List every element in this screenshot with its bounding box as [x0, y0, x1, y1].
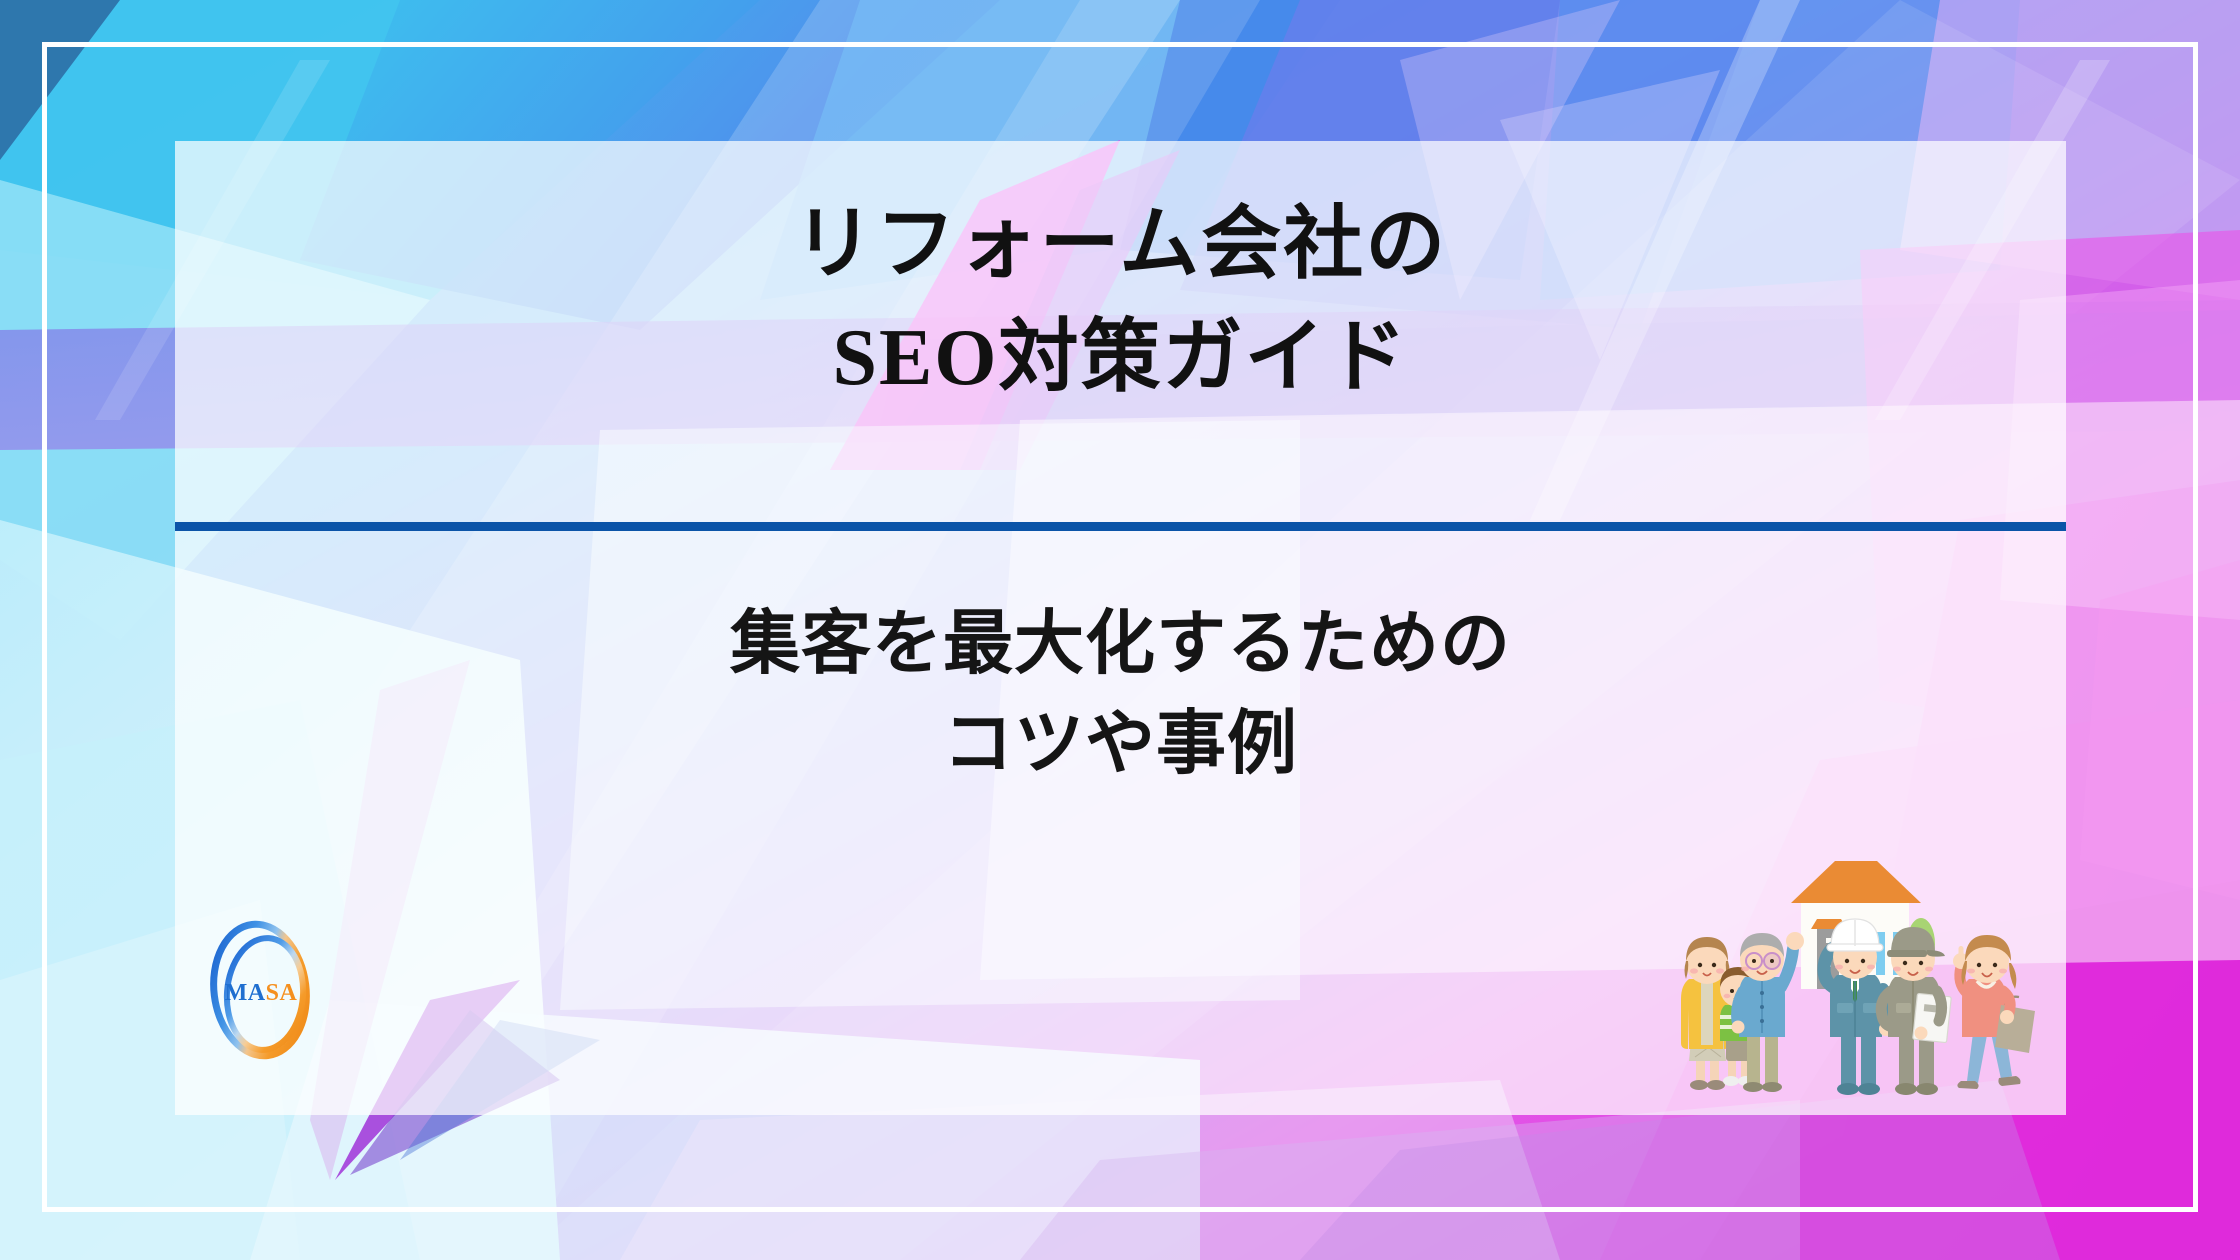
title-line-2: SEO対策ガイド — [175, 302, 2066, 415]
masa-wordmark: MASA — [225, 980, 298, 1006]
reform-family-and-workers-illustration — [1665, 781, 2055, 1111]
subtitle-line-2: コツや事例 — [175, 693, 2066, 793]
content-card: リフォーム会社の SEO対策ガイド 集客を最大化するための コツや事例 — [175, 141, 2066, 1115]
masa-logo: MASA — [195, 910, 325, 1070]
title-line-1: リフォーム会社の — [175, 189, 2066, 302]
masa-wordmark-part1: MA — [225, 980, 266, 1006]
masa-wordmark-part2: SA — [266, 980, 298, 1006]
figure-worker-cap — [1881, 927, 1951, 1095]
figure-woman-shopper — [1953, 935, 2035, 1089]
subtitle-block: 集客を最大化するための コツや事例 — [175, 593, 2066, 793]
title-divider-rule — [175, 522, 2066, 531]
title-block: リフォーム会社の SEO対策ガイド — [175, 189, 2066, 415]
subtitle-line-1: 集客を最大化するための — [175, 593, 2066, 693]
